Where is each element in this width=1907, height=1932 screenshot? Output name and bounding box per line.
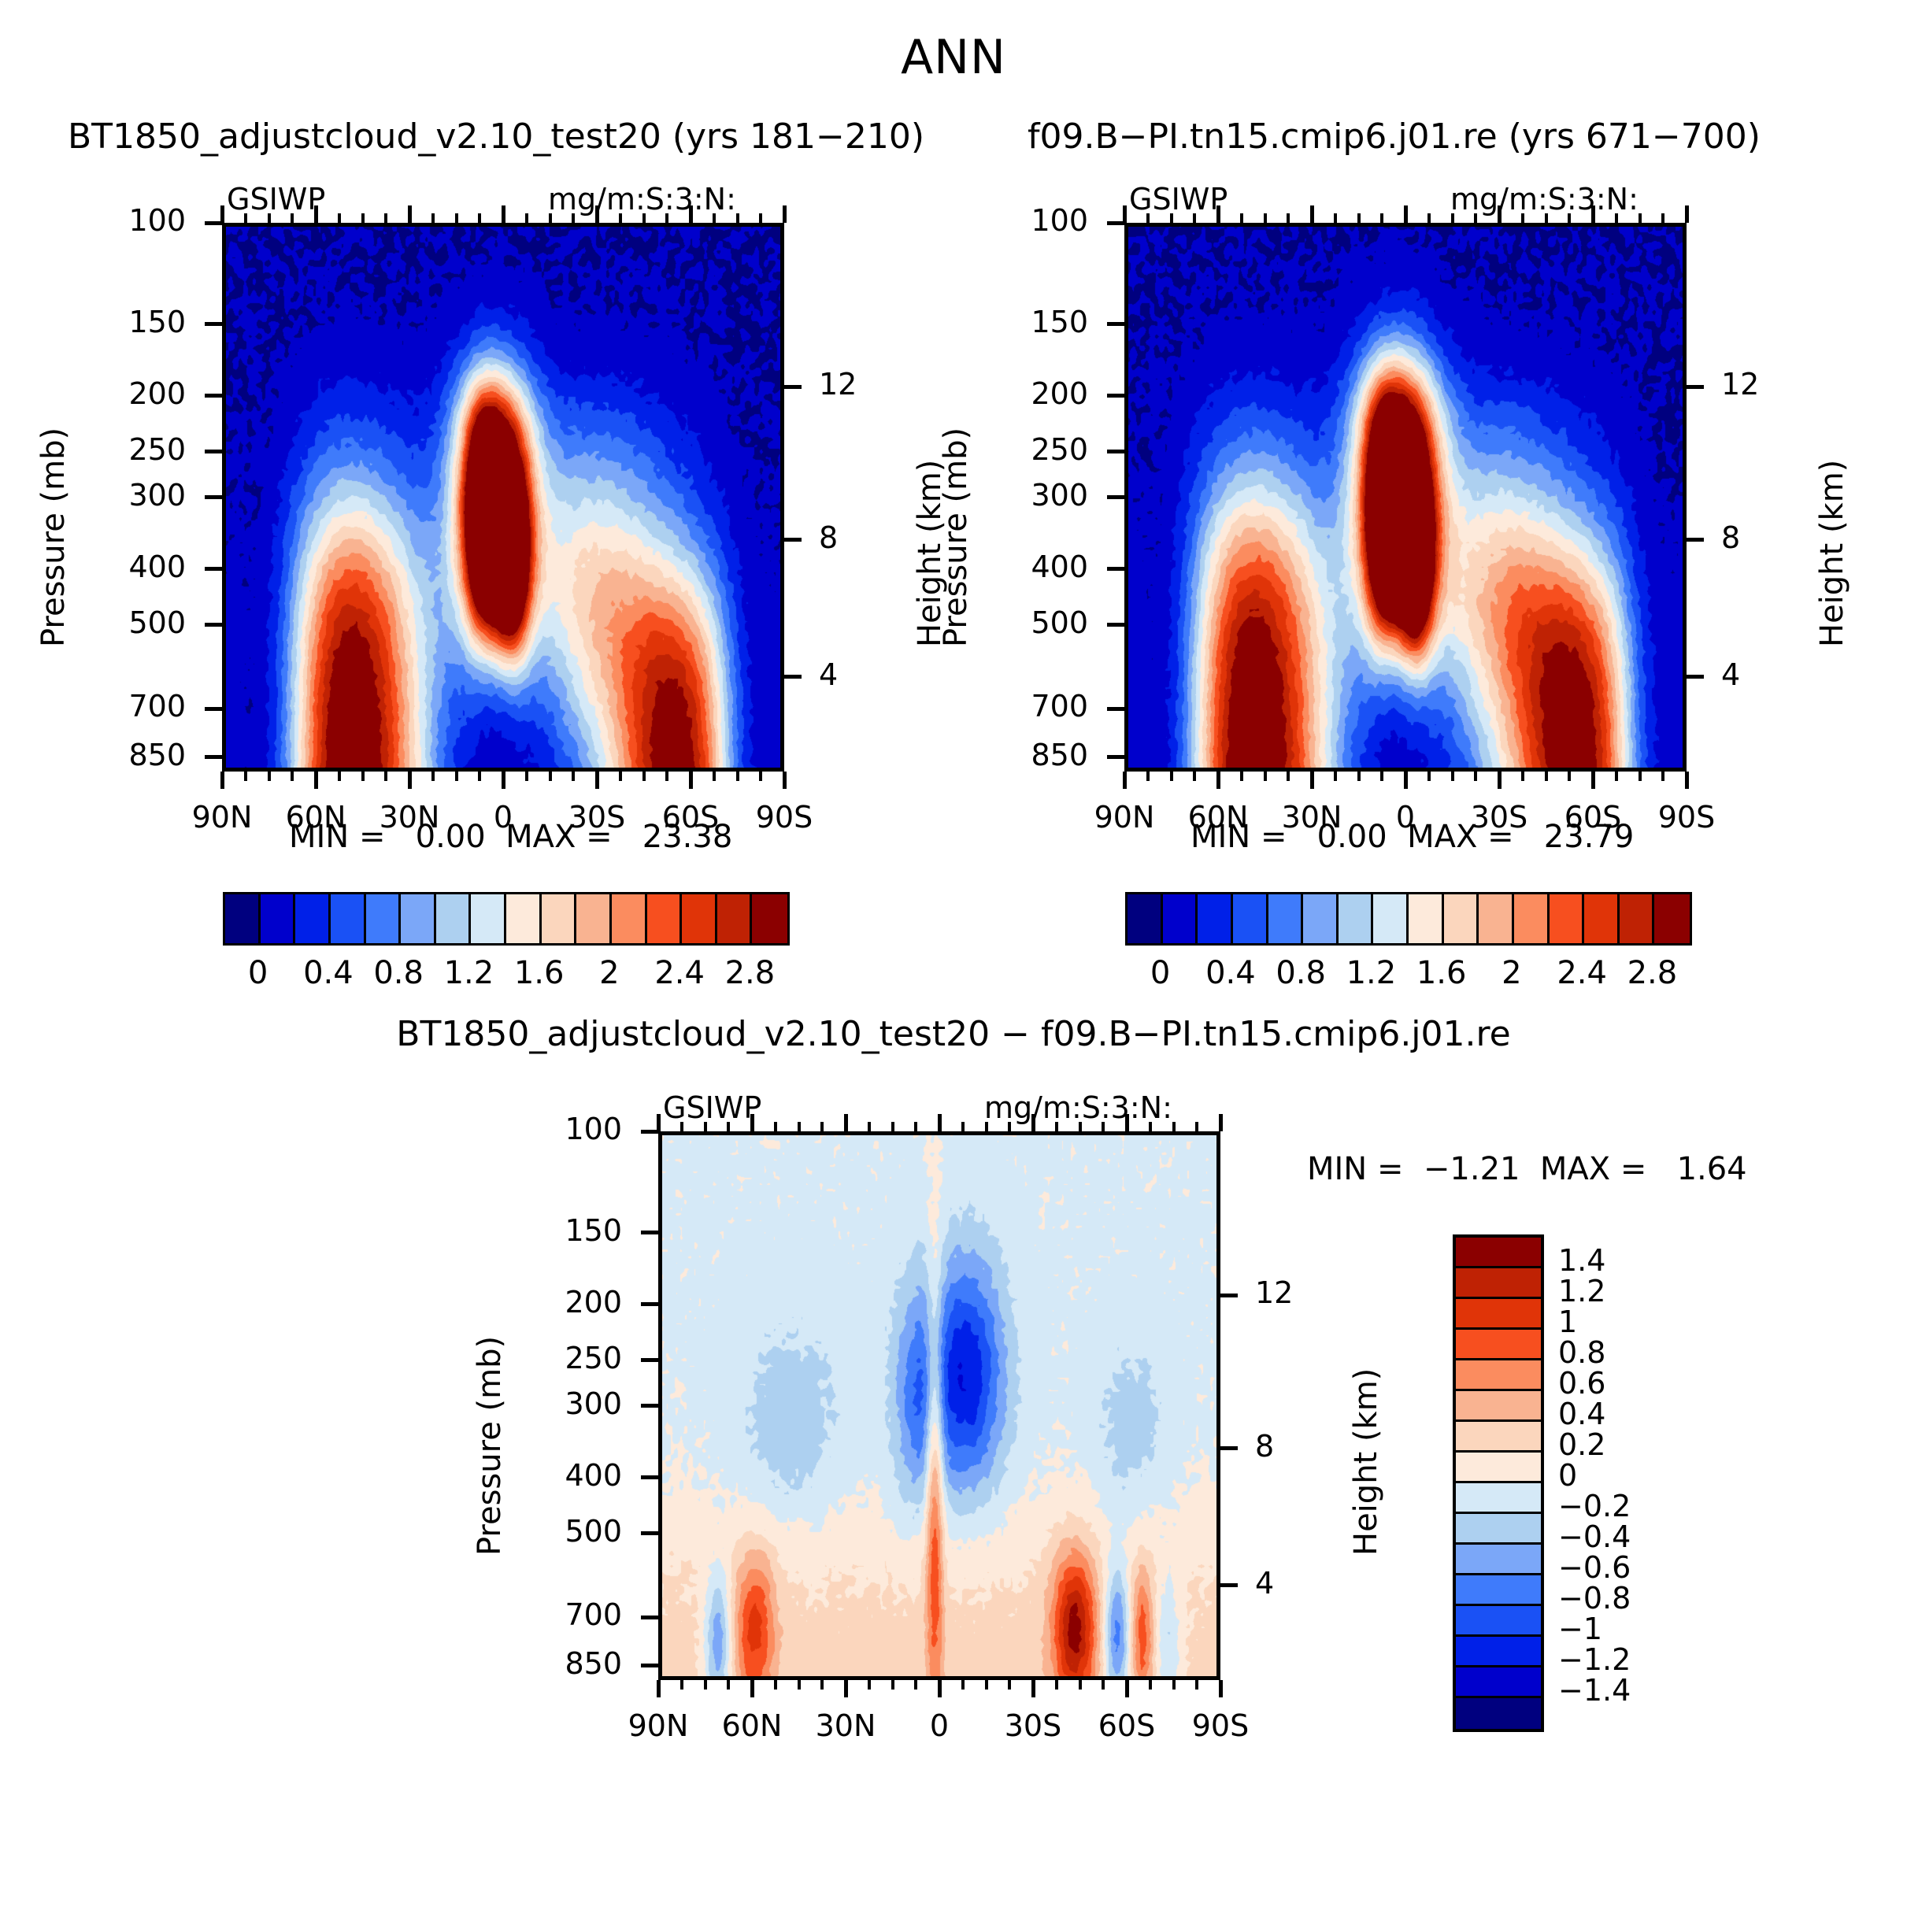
x-tick-minor <box>1149 1680 1152 1690</box>
x-tick-minor <box>1545 213 1548 223</box>
x-tick-minor <box>1079 1680 1082 1690</box>
colorbar-tick-label: −0.4 <box>1558 1519 1708 1554</box>
colorbar-swatch <box>1339 894 1374 943</box>
colorbar-test[interactable] <box>223 892 790 946</box>
colorbar-swatch <box>1514 894 1550 943</box>
colorbar-swatch <box>1444 894 1479 943</box>
x-tick-major <box>1498 205 1502 223</box>
x-tick-major <box>1216 205 1220 223</box>
x-tick-minor <box>1334 213 1337 223</box>
max-value: 1.64 <box>1646 1151 1746 1187</box>
min-label: MIN = <box>289 819 385 855</box>
x-tick-minor <box>1380 213 1383 223</box>
x-tick-major <box>1685 772 1689 789</box>
x-axis-tick-label: 90S <box>1639 800 1734 835</box>
pressure-tick-label: 250 <box>488 1341 622 1375</box>
height-tick <box>1220 1294 1238 1297</box>
variable-label: GSIWP <box>663 1090 761 1125</box>
x-tick-minor <box>868 1122 871 1131</box>
pressure-tick <box>1107 322 1124 326</box>
pressure-tick <box>205 707 222 711</box>
x-tick-minor <box>1172 1122 1176 1131</box>
x-tick-minor <box>1008 1680 1011 1690</box>
pressure-tick-label: 700 <box>52 689 186 724</box>
min-label: MIN = <box>1307 1151 1403 1187</box>
colorbar-swatch <box>1373 894 1409 943</box>
x-tick-minor <box>961 1680 965 1690</box>
x-tick-minor <box>1615 772 1618 781</box>
x-tick-minor <box>798 1680 801 1690</box>
x-tick-minor <box>665 772 668 781</box>
x-tick-major <box>783 205 787 223</box>
max-label: MAX = <box>486 819 613 855</box>
pressure-tick-label: 400 <box>954 550 1088 584</box>
x-tick-minor <box>1079 1122 1082 1131</box>
x-tick-minor <box>244 772 247 781</box>
x-tick-major <box>502 205 505 223</box>
x-tick-minor <box>1287 772 1290 781</box>
colorbar-swatch <box>1409 894 1444 943</box>
variable-label: GSIWP <box>1129 182 1228 217</box>
x-tick-minor <box>455 213 458 223</box>
colorbar-swatch <box>612 894 647 943</box>
x-tick-major <box>1216 772 1220 789</box>
colorbar-swatch <box>1456 1606 1541 1637</box>
colorbar-tick-label: −1.4 <box>1558 1673 1708 1708</box>
x-tick-minor <box>727 1122 730 1131</box>
contour-field <box>226 227 780 768</box>
height-tick-label: 12 <box>819 367 857 402</box>
colorbar-swatch <box>1198 894 1233 943</box>
colorbar-tick-label: −0.2 <box>1558 1489 1708 1523</box>
colorbar-swatch <box>542 894 577 943</box>
x-tick-major <box>1591 205 1595 223</box>
units-label: mg/m:S:3:N: <box>984 1090 1172 1125</box>
x-tick-major <box>750 1114 754 1131</box>
x-tick-major <box>1219 1680 1223 1697</box>
colorbar-tick-label: −1 <box>1558 1612 1708 1646</box>
x-tick-major <box>1310 205 1314 223</box>
colorbar-swatch <box>1456 1453 1541 1483</box>
pressure-tick-label: 300 <box>52 478 186 513</box>
height-tick <box>1687 538 1704 542</box>
pressure-tick-label: 400 <box>488 1458 622 1493</box>
colorbar-swatch <box>295 894 331 943</box>
x-tick-minor <box>291 213 294 223</box>
x-tick-minor <box>1521 213 1524 223</box>
height-tick-label: 8 <box>1721 520 1740 555</box>
x-tick-minor <box>478 213 481 223</box>
colorbar-tick-label: 1.4 <box>1558 1243 1708 1278</box>
colorbar-swatch <box>1456 1514 1541 1545</box>
season-title: ANN <box>0 30 1907 85</box>
max-label: MAX = <box>1520 1151 1646 1187</box>
x-tick-minor <box>736 772 739 781</box>
x-tick-major <box>689 205 693 223</box>
pressure-tick <box>1107 221 1124 225</box>
colorbar-swatch <box>401 894 436 943</box>
x-tick-minor <box>525 772 528 781</box>
x-tick-minor <box>431 213 435 223</box>
colorbar-swatch <box>436 894 472 943</box>
height-tick-label: 4 <box>1721 657 1740 692</box>
pressure-tick-label: 200 <box>488 1285 622 1319</box>
colorbar-tick-label: 0.4 <box>1558 1397 1708 1431</box>
colorbar-swatch <box>471 894 506 943</box>
pressure-tick-label: 150 <box>52 305 186 339</box>
x-tick-minor <box>1055 1680 1058 1690</box>
pressure-tick <box>205 755 222 759</box>
x-tick-major <box>314 205 318 223</box>
colorbar-swatch <box>1479 894 1514 943</box>
pressure-tick <box>641 1404 658 1408</box>
pressure-tick-label: 500 <box>488 1514 622 1549</box>
max-value: 23.38 <box>613 819 733 855</box>
units-label: mg/m:S:3:N: <box>1450 182 1639 217</box>
colorbar-swatch <box>647 894 683 943</box>
colorbar-swatch <box>366 894 402 943</box>
x-tick-minor <box>1193 213 1196 223</box>
colorbar-tick-label: 0 <box>1558 1458 1708 1493</box>
plot-panel-difference: GSIWPmg/m:S:3:N:90N60N30N030S60S90S10015… <box>658 1131 1535 1932</box>
pressure-tick-label: 700 <box>954 689 1088 724</box>
colorbar-tick-label: −0.6 <box>1558 1550 1708 1585</box>
x-tick-minor <box>704 1680 707 1690</box>
colorbar-tick-label: 1.2 <box>1558 1274 1708 1308</box>
pressure-tick-label: 250 <box>52 432 186 467</box>
x-tick-minor <box>478 772 481 781</box>
contour-field <box>1128 227 1683 768</box>
x-axis-tick-label: 60N <box>705 1708 799 1743</box>
x-tick-major <box>1125 1114 1129 1131</box>
x-tick-minor <box>1474 213 1477 223</box>
colorbar-control[interactable] <box>1125 892 1692 946</box>
min-value: 0.00 <box>1287 819 1387 855</box>
pressure-tick-label: 850 <box>954 738 1088 772</box>
x-tick-minor <box>798 1122 801 1131</box>
x-tick-major <box>314 772 318 789</box>
x-tick-minor <box>384 772 387 781</box>
variable-label: GSIWP <box>227 182 325 217</box>
pressure-tick <box>1107 623 1124 627</box>
x-tick-minor <box>642 772 646 781</box>
x-tick-minor <box>1357 772 1361 781</box>
colorbar-swatch <box>225 894 261 943</box>
colorbar-swatch <box>331 894 366 943</box>
pressure-tick-label: 500 <box>52 605 186 640</box>
x-tick-minor <box>572 213 575 223</box>
pressure-tick-label: 100 <box>488 1112 622 1146</box>
x-tick-major <box>220 772 224 789</box>
colorbar-swatch <box>1584 894 1620 943</box>
colorbar-tick-label: 0.8 <box>1558 1335 1708 1370</box>
x-tick-major <box>844 1680 848 1697</box>
x-tick-major <box>1404 205 1408 223</box>
colorbar-swatch <box>1456 1330 1541 1360</box>
plot-area-control <box>1124 223 1687 772</box>
contour-field <box>662 1135 1216 1676</box>
x-axis-tick-label: 90N <box>611 1708 705 1743</box>
pressure-tick <box>1107 394 1124 398</box>
colorbar-tick-label: 2.8 <box>694 955 805 991</box>
height-tick-label: 12 <box>1721 367 1759 402</box>
x-tick-minor <box>914 1680 917 1690</box>
colorbar-swatch <box>1303 894 1339 943</box>
panel-title-control: f09.B−PI.tn15.cmip6.j01.re (yrs 671−700) <box>1028 117 1761 157</box>
x-tick-minor <box>1661 772 1664 781</box>
height-tick-label: 8 <box>1255 1429 1274 1464</box>
max-label: MAX = <box>1387 819 1514 855</box>
colorbar-tick-label: −0.8 <box>1558 1581 1708 1616</box>
height-tick <box>784 675 802 679</box>
minmax-control: MIN = 0.00 MAX = 23.79 <box>1190 819 1634 855</box>
colorbar-swatch <box>1456 1238 1541 1268</box>
units-label: mg/m:S:3:N: <box>548 182 736 217</box>
x-tick-minor <box>891 1680 894 1690</box>
x-tick-minor <box>704 1122 707 1131</box>
pressure-tick-label: 150 <box>488 1213 622 1248</box>
height-tick <box>1220 1583 1238 1587</box>
x-tick-minor <box>680 1122 683 1131</box>
x-tick-minor <box>961 1122 965 1131</box>
min-value: 0.00 <box>385 819 485 855</box>
colorbar-swatch <box>576 894 612 943</box>
x-tick-minor <box>1193 772 1196 781</box>
x-axis-tick-label: 0 <box>892 1708 987 1743</box>
x-tick-major <box>1123 772 1127 789</box>
x-tick-major <box>689 772 693 789</box>
x-tick-minor <box>384 213 387 223</box>
x-tick-minor <box>1240 772 1243 781</box>
colorbar-tick-label: −1.2 <box>1558 1642 1708 1677</box>
x-tick-minor <box>1055 1122 1058 1131</box>
x-tick-minor <box>1615 213 1618 223</box>
x-tick-minor <box>431 772 435 781</box>
x-tick-minor <box>268 772 271 781</box>
minmax-difference: MIN = −1.21 MAX = 1.64 <box>1307 1151 1747 1187</box>
height-tick-label: 8 <box>819 520 838 555</box>
pressure-tick <box>1107 707 1124 711</box>
height-tick-label: 12 <box>1255 1275 1293 1310</box>
x-tick-minor <box>619 772 622 781</box>
y-axis-title: Pressure (mb) <box>938 427 974 646</box>
x-tick-minor <box>549 772 552 781</box>
x-tick-minor <box>1427 213 1431 223</box>
pressure-tick-label: 100 <box>954 203 1088 238</box>
x-tick-minor <box>1380 772 1383 781</box>
colorbar-swatch <box>1456 1545 1541 1575</box>
x-tick-minor <box>1195 1122 1198 1131</box>
x-tick-major <box>1404 772 1408 789</box>
pressure-tick <box>641 1616 658 1619</box>
x-axis-tick-label: 30S <box>986 1708 1080 1743</box>
pressure-tick <box>205 394 222 398</box>
pressure-tick-label: 300 <box>954 478 1088 513</box>
x-tick-minor <box>868 1680 871 1690</box>
x-axis-tick-label: 90S <box>1173 1708 1268 1743</box>
x-tick-minor <box>1427 772 1431 781</box>
pressure-tick <box>1107 450 1124 453</box>
x-tick-minor <box>1146 213 1150 223</box>
x-tick-minor <box>1287 213 1290 223</box>
min-value: −1.21 <box>1403 1151 1520 1187</box>
pressure-tick <box>1107 755 1124 759</box>
x-tick-minor <box>820 1122 824 1131</box>
pressure-tick <box>205 322 222 326</box>
x-tick-minor <box>1521 772 1524 781</box>
colorbar-swatch <box>1456 1299 1541 1330</box>
pressure-tick-label: 300 <box>488 1386 622 1421</box>
x-tick-minor <box>985 1122 988 1131</box>
minmax-test: MIN = 0.00 MAX = 23.38 <box>289 819 732 855</box>
pressure-tick-label: 200 <box>954 376 1088 411</box>
x-axis-tick-label: 60S <box>1079 1708 1174 1743</box>
pressure-tick <box>1107 567 1124 571</box>
x-tick-minor <box>1357 213 1361 223</box>
x-tick-minor <box>549 213 552 223</box>
pressure-tick-label: 100 <box>52 203 186 238</box>
pressure-tick-label: 400 <box>52 550 186 584</box>
height-tick <box>1687 675 1704 679</box>
x-tick-major <box>1685 205 1689 223</box>
x-tick-minor <box>572 772 575 781</box>
x-tick-major <box>1498 772 1502 789</box>
pressure-tick <box>1107 495 1124 499</box>
x-tick-minor <box>268 213 271 223</box>
x-tick-major <box>595 772 599 789</box>
colorbar-swatch <box>1456 1422 1541 1453</box>
colorbar-swatch <box>682 894 717 943</box>
x-tick-minor <box>985 1680 988 1690</box>
colorbar-swatch <box>1268 894 1304 943</box>
x-tick-minor <box>1639 772 1642 781</box>
colorbar-swatch <box>1128 894 1163 943</box>
x-tick-major <box>1031 1114 1035 1131</box>
x-tick-minor <box>1240 213 1243 223</box>
colorbar-swatch <box>1456 1698 1541 1729</box>
x-tick-major <box>783 772 787 789</box>
x-tick-minor <box>244 213 247 223</box>
colorbar-swatch <box>1620 894 1655 943</box>
colorbar-tick-label: 0.6 <box>1558 1366 1708 1401</box>
x-tick-minor <box>1170 213 1173 223</box>
colorbar-swatch <box>1456 1667 1541 1698</box>
x-tick-minor <box>1102 1680 1105 1690</box>
x-tick-minor <box>727 1680 730 1690</box>
pressure-tick <box>205 623 222 627</box>
x-tick-minor <box>1451 213 1454 223</box>
x-tick-minor <box>525 213 528 223</box>
x-tick-major <box>408 772 412 789</box>
pressure-tick <box>205 450 222 453</box>
colorbar-swatch <box>1550 894 1585 943</box>
max-value: 23.79 <box>1514 819 1635 855</box>
x-tick-minor <box>1195 1680 1198 1690</box>
pressure-tick <box>641 1531 658 1535</box>
x-tick-minor <box>642 213 646 223</box>
x-tick-minor <box>1451 772 1454 781</box>
x-tick-minor <box>1264 772 1267 781</box>
x-axis-tick-label: 90S <box>737 800 831 835</box>
colorbar-tick-label: 0.2 <box>1558 1427 1708 1462</box>
x-tick-minor <box>1568 213 1571 223</box>
colorbar-swatch <box>261 894 296 943</box>
x-tick-minor <box>361 772 365 781</box>
x-tick-major <box>502 772 505 789</box>
x-axis-tick-label: 30N <box>798 1708 893 1743</box>
x-tick-minor <box>774 1680 777 1690</box>
pressure-tick-label: 250 <box>954 432 1088 467</box>
colorbar-swatch <box>506 894 542 943</box>
x-tick-minor <box>713 213 716 223</box>
x-tick-minor <box>1334 772 1337 781</box>
x-tick-major <box>1591 772 1595 789</box>
x-tick-minor <box>1149 1122 1152 1131</box>
x-tick-minor <box>1170 772 1173 781</box>
pressure-tick <box>205 567 222 571</box>
x-tick-minor <box>820 1680 824 1690</box>
x-axis-tick-label: 90N <box>175 800 269 835</box>
pressure-tick-label: 700 <box>488 1597 622 1632</box>
colorbar-swatch <box>1456 1483 1541 1514</box>
x-tick-major <box>1125 1680 1129 1697</box>
colorbar-difference[interactable] <box>1453 1234 1544 1732</box>
x-tick-minor <box>361 213 365 223</box>
pressure-tick-label: 150 <box>954 305 1088 339</box>
colorbar-swatch <box>1456 1268 1541 1299</box>
x-tick-minor <box>338 213 341 223</box>
colorbar-swatch <box>717 894 753 943</box>
x-tick-minor <box>736 213 739 223</box>
pressure-tick-label: 850 <box>52 738 186 772</box>
y2-axis-title: Height (km) <box>1814 459 1850 646</box>
pressure-tick <box>205 221 222 225</box>
x-tick-minor <box>1639 213 1642 223</box>
colorbar-swatch <box>1456 1637 1541 1667</box>
height-tick <box>1220 1446 1238 1450</box>
height-tick <box>784 385 802 389</box>
pressure-tick <box>641 1358 658 1362</box>
pressure-tick <box>641 1475 658 1479</box>
x-tick-minor <box>680 1680 683 1690</box>
pressure-tick-label: 200 <box>52 376 186 411</box>
panel-title-test: BT1850_adjustcloud_v2.10_test20 (yrs 181… <box>68 117 924 157</box>
x-tick-minor <box>1172 1680 1176 1690</box>
colorbar-swatch <box>752 894 787 943</box>
height-tick-label: 4 <box>1255 1566 1274 1601</box>
x-tick-major <box>844 1114 848 1131</box>
pressure-tick <box>641 1664 658 1667</box>
x-tick-minor <box>1264 213 1267 223</box>
min-label: MIN = <box>1190 819 1287 855</box>
x-tick-major <box>750 1680 754 1697</box>
x-tick-major <box>1310 772 1314 789</box>
colorbar-swatch <box>1233 894 1268 943</box>
x-tick-major <box>938 1680 942 1697</box>
x-tick-minor <box>338 772 341 781</box>
pressure-tick <box>641 1130 658 1134</box>
x-tick-minor <box>1102 1122 1105 1131</box>
x-tick-minor <box>713 772 716 781</box>
x-tick-minor <box>1146 772 1150 781</box>
colorbar-swatch <box>1456 1391 1541 1422</box>
x-tick-major <box>938 1114 942 1131</box>
plot-area-test <box>222 223 784 772</box>
x-axis-tick-label: 90N <box>1077 800 1172 835</box>
x-tick-minor <box>619 213 622 223</box>
x-tick-minor <box>759 772 762 781</box>
x-tick-minor <box>759 213 762 223</box>
